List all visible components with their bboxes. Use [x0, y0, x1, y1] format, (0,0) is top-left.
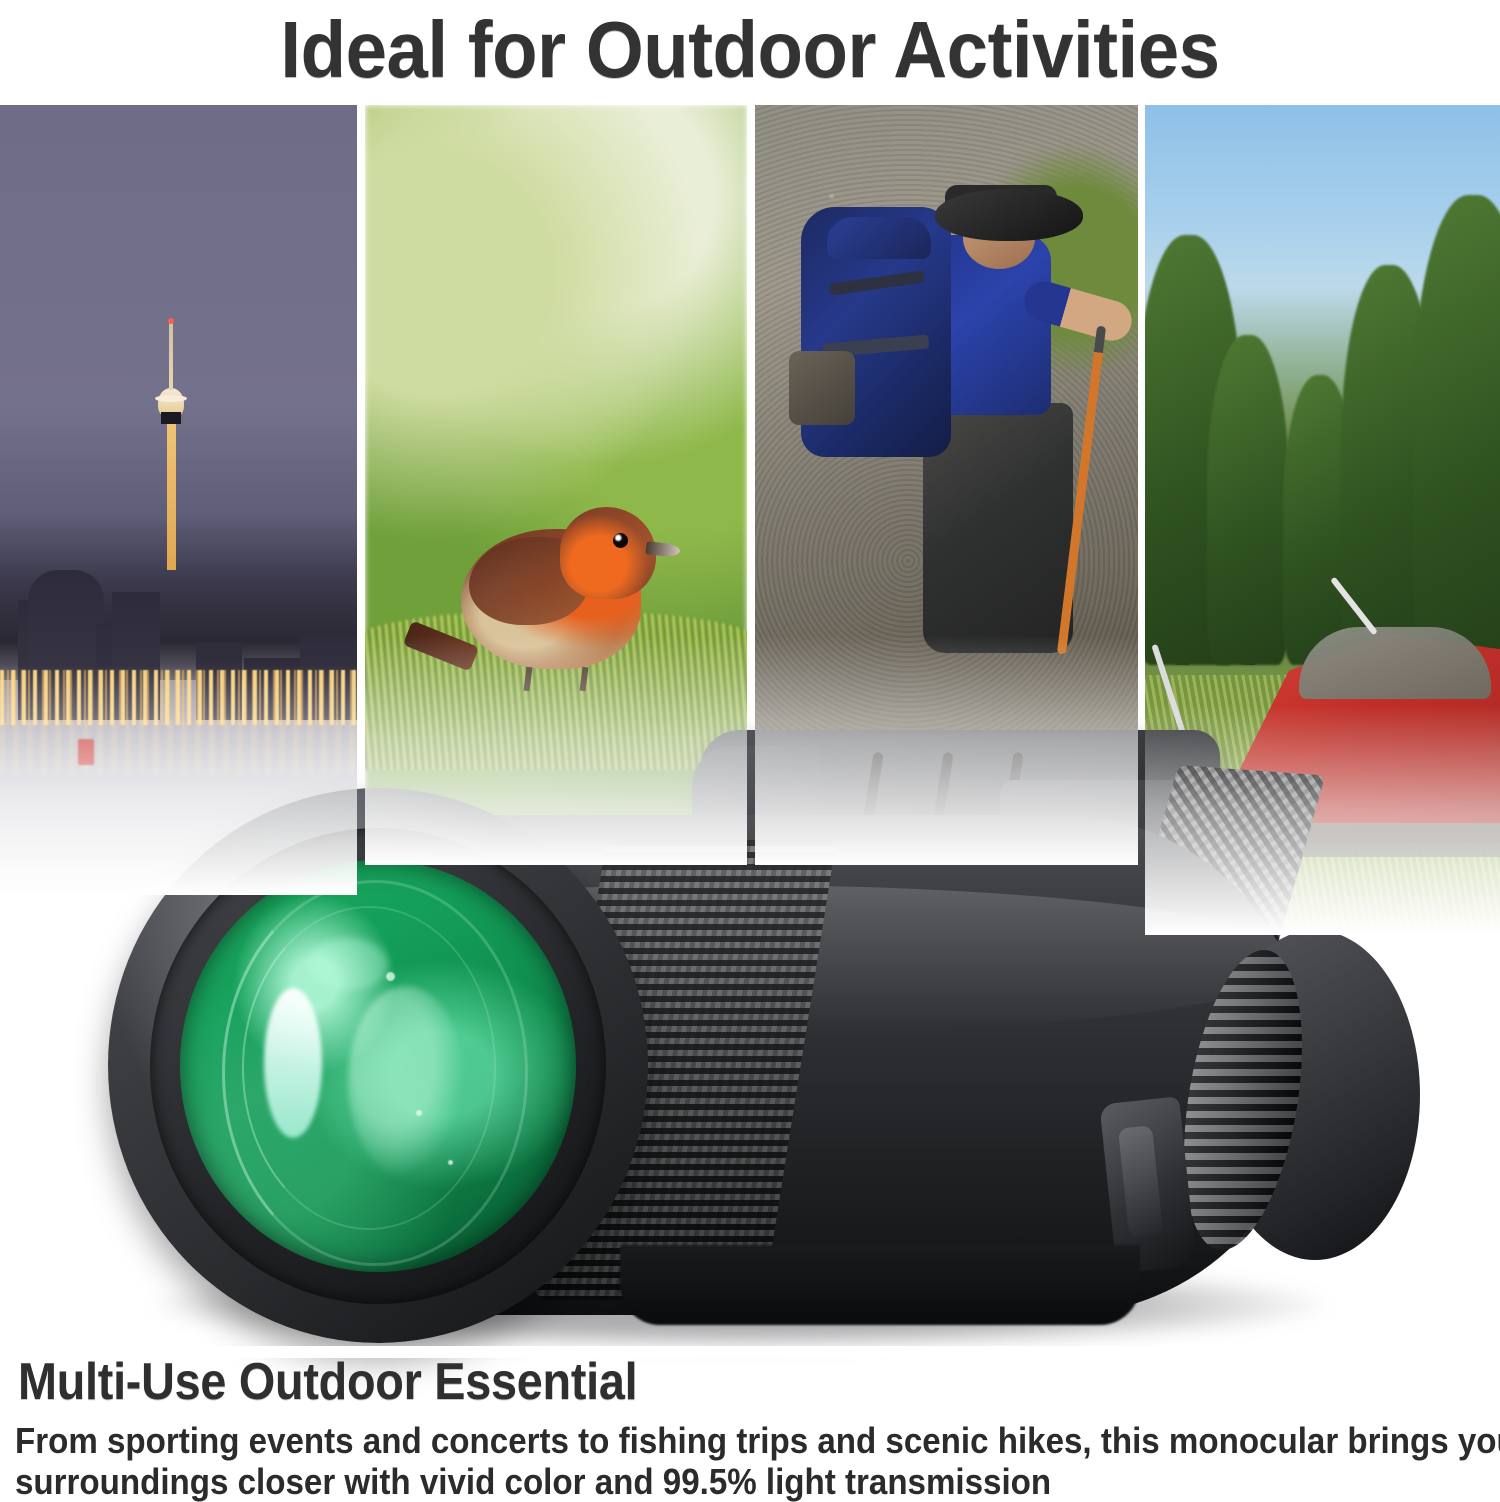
- photo-panel-red-tent-camping: [1145, 105, 1500, 935]
- observation-tower: [158, 320, 184, 570]
- product-base: [620, 1245, 1140, 1325]
- lens-bezel: [150, 828, 606, 1304]
- marketing-image-canvas: Ideal for Outdoor Activities: [0, 0, 1500, 1498]
- hiker-figure: [795, 165, 1085, 765]
- building: [244, 658, 302, 720]
- tent-mesh-window: [1299, 627, 1491, 699]
- sun-hat: [935, 189, 1083, 241]
- building: [300, 634, 357, 720]
- city-lights: [0, 670, 357, 725]
- red-dome-tent: [1203, 575, 1500, 843]
- building: [196, 642, 242, 720]
- body-line-1: From sporting events and concerts to fis…: [15, 1420, 1358, 1461]
- green-bokeh-background: [365, 105, 747, 865]
- skyline-buildings: [0, 520, 357, 720]
- robin-bird: [453, 507, 658, 677]
- lens-highlight: [264, 988, 322, 1138]
- harbour-boat: [78, 739, 94, 765]
- building: [28, 570, 104, 720]
- objective-lens-glass: [180, 860, 576, 1272]
- photo-panel-hiker-with-backpack: [755, 105, 1138, 865]
- bird-eye: [613, 533, 628, 548]
- photo-panel-city-skyline-night: [0, 105, 357, 895]
- grass-field: [1145, 675, 1500, 935]
- page-title: Ideal for Outdoor Activities: [53, 0, 1448, 100]
- building: [112, 592, 160, 720]
- water-reflection: [0, 720, 357, 775]
- body-line-2: surroundings closer with vivid color and…: [15, 1461, 1358, 1502]
- harbour-water: [0, 680, 357, 895]
- body-copy: From sporting events and concerts to fis…: [15, 1420, 1358, 1502]
- photo-panel-robin-bird-on-moss: [365, 105, 747, 865]
- subheading: Multi-Use Outdoor Essential: [18, 1352, 1098, 1408]
